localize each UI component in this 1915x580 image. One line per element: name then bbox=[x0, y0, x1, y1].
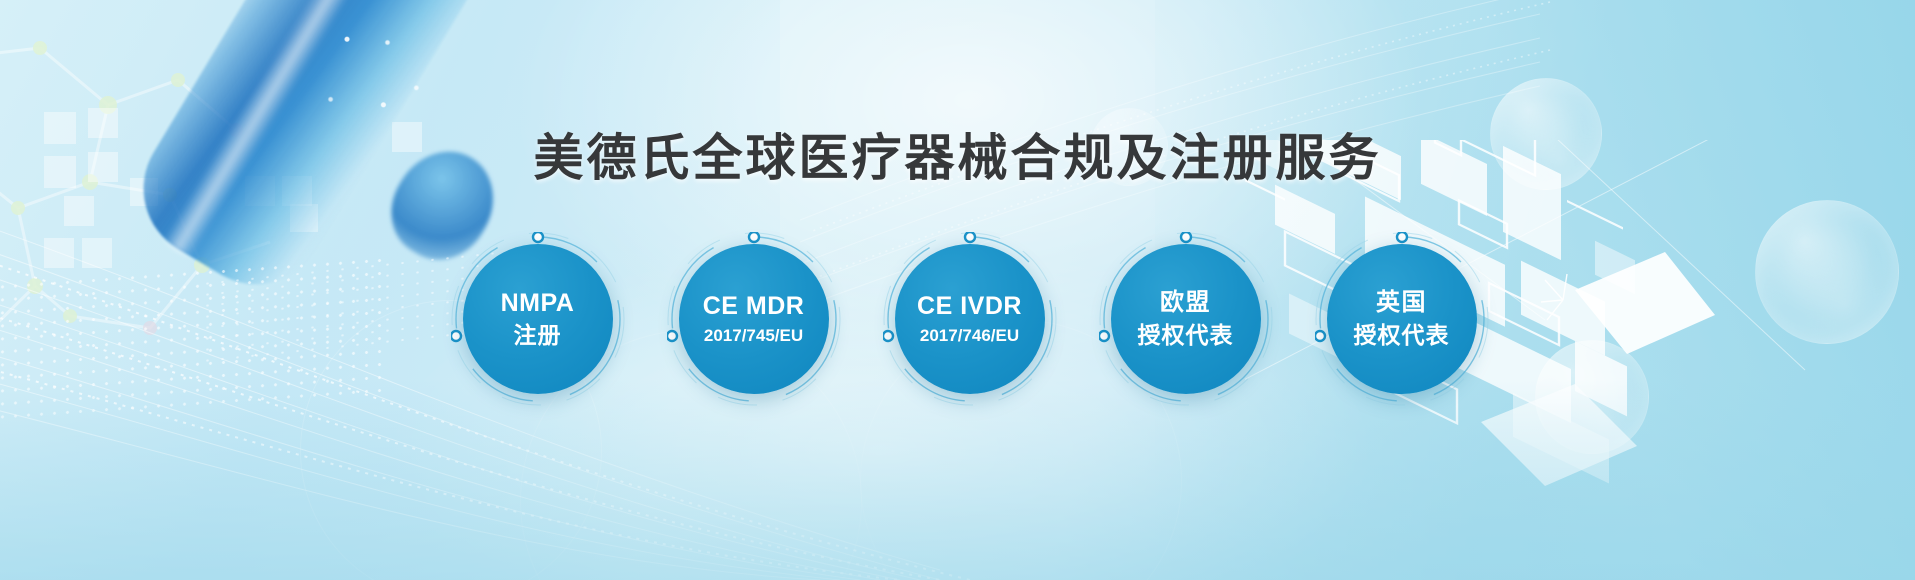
service-badge-ce-mdr[interactable]: CE MDR 2017/745/EU bbox=[679, 244, 829, 394]
service-badge-eu-rep[interactable]: 欧盟 授权代表 bbox=[1111, 244, 1261, 394]
decor-square bbox=[64, 196, 94, 226]
badge-circle: CE IVDR 2017/746/EU bbox=[895, 244, 1045, 394]
service-badge-nmpa[interactable]: NMPA 注册 bbox=[463, 244, 613, 394]
badge-subtitle: 2017/746/EU bbox=[920, 326, 1019, 346]
service-badge-ce-ivdr[interactable]: CE IVDR 2017/746/EU bbox=[895, 244, 1045, 394]
page-title: 美德氏全球医疗器械合规及注册服务 bbox=[0, 118, 1915, 190]
badge-subtitle: 2017/745/EU bbox=[704, 326, 803, 346]
badge-title: CE IVDR bbox=[917, 292, 1022, 322]
badge-title: CE MDR bbox=[703, 292, 805, 322]
badge-circle: CE MDR 2017/745/EU bbox=[679, 244, 829, 394]
badge-title: 英国 bbox=[1376, 289, 1427, 317]
service-badge-uk-rep[interactable]: 英国 授权代表 bbox=[1327, 244, 1477, 394]
hero-banner: 美德氏全球医疗器械合规及注册服务 NMPA 注册 CE MDR bbox=[0, 0, 1915, 580]
badge-subtitle: 注册 bbox=[514, 322, 562, 349]
badge-subtitle: 授权代表 bbox=[1138, 322, 1234, 349]
badge-circle: 英国 授权代表 bbox=[1327, 244, 1477, 394]
badge-title: NMPA bbox=[501, 289, 575, 319]
badge-title: 欧盟 bbox=[1160, 289, 1211, 317]
service-badge-row: NMPA 注册 CE MDR 2017/745/EU bbox=[0, 244, 1915, 484]
badge-circle: 欧盟 授权代表 bbox=[1111, 244, 1261, 394]
badge-subtitle: 授权代表 bbox=[1354, 322, 1450, 349]
badge-circle: NMPA 注册 bbox=[463, 244, 613, 394]
